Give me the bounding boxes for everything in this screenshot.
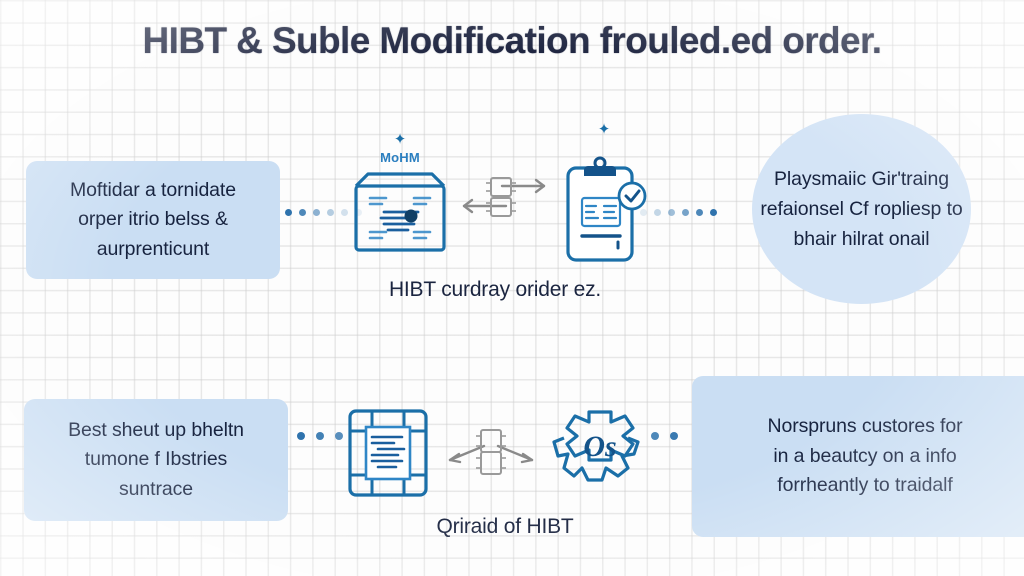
bottom-right-text-panel: Norspruns custores for in a beautcy on a… xyxy=(692,376,1024,537)
panel-line: orper itrio belss & xyxy=(70,205,236,235)
chip-document-icon xyxy=(336,401,440,505)
bottom-left-text-panel: Best sheut up bheltn tumone f Ibstries s… xyxy=(24,399,288,521)
panel-line: Gir'traing xyxy=(872,168,950,190)
top-right-circle-panel: Playsmaiic Gir'traing refaionsel Cf ropl… xyxy=(752,114,971,304)
panel-line: forrheantly to traidalf xyxy=(767,471,962,501)
server-box-icon-wrap: ✦ MoHM xyxy=(348,136,452,258)
sparkle-icon: ✦ xyxy=(598,122,611,137)
top-icon-group: ✦ MoHM xyxy=(348,128,652,266)
panel-line: hilrat onail xyxy=(842,228,930,250)
top-row-caption: HIBT curdray orider ez. xyxy=(330,278,660,302)
infographic-canvas: HIBT & Suble Modification frouled.ed ord… xyxy=(0,0,1024,576)
gear-os-icon: Os xyxy=(544,398,656,508)
connector-dots-top-right xyxy=(640,209,717,216)
top-left-text-panel: Moftidar a tornidate orper itrio belss &… xyxy=(26,161,280,279)
gear-os-label: Os xyxy=(583,430,616,463)
panel-line: in a beautcy on a info xyxy=(767,442,962,472)
panel-line: Moftidar a tornidate xyxy=(70,176,236,206)
bottom-icon-group: Os xyxy=(336,398,656,508)
page-title: HIBT & Suble Modification frouled.ed ord… xyxy=(0,20,1024,62)
connector-dots-bottom-right xyxy=(651,432,678,440)
server-box-icon xyxy=(348,168,452,258)
panel-line: Best sheut up bheltn xyxy=(68,416,244,446)
sparkle-icon: ✦ xyxy=(394,132,407,147)
panel-line: aurprenticunt xyxy=(70,235,236,265)
data-exchange-icon xyxy=(446,416,538,490)
panel-line: Norspruns custores for xyxy=(767,412,962,442)
server-box-label: MoHM xyxy=(380,150,420,165)
panel-line: refaionsel Cf xyxy=(760,198,868,220)
clipboard-check-icon-wrap: ✦ xyxy=(556,128,652,266)
gear-os-icon-wrap: Os xyxy=(544,398,656,508)
panel-line: Playsmaiic xyxy=(774,168,866,190)
data-exchange-icon xyxy=(458,160,550,234)
panel-line: tumone f Ibstries xyxy=(68,445,244,475)
clipboard-check-icon xyxy=(556,154,652,266)
chip-document-icon-wrap xyxy=(336,401,440,505)
bottom-row-caption: Qriraid of HIBT xyxy=(340,515,670,539)
panel-line: suntrace xyxy=(68,475,244,505)
